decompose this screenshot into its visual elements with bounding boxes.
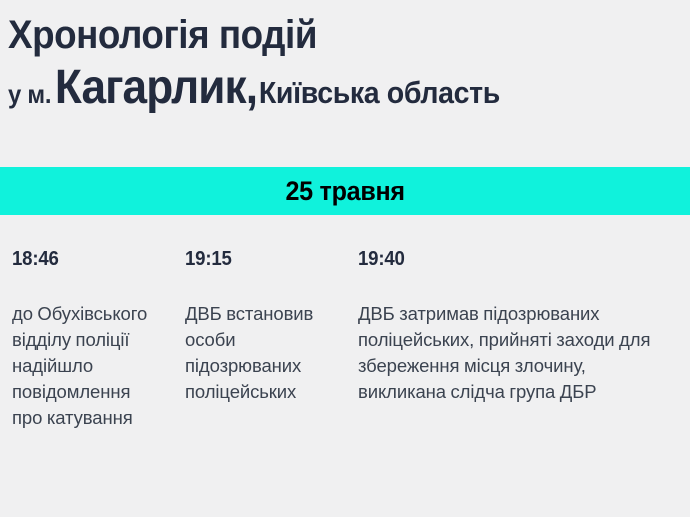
title-location-prefix: у м. (8, 79, 51, 109)
timeline-entry-text: ДВБ затримав підозрюваних поліцейських, … (358, 301, 676, 405)
title-line-primary: Хронологія подій (8, 12, 628, 58)
title-city-name: Кагарлик, (55, 61, 257, 114)
title-line-secondary: у м.Кагарлик,Київська область (8, 64, 628, 112)
title-region-name: Київська область (259, 75, 500, 110)
date-banner: 25 травня (0, 167, 690, 215)
page-title: Хронологія подій у м.Кагарлик,Київська о… (0, 0, 690, 112)
timeline-entry: 19:15 ДВБ встановив особи підозрюваних п… (185, 248, 337, 405)
timeline-entry-time: 19:40 (358, 248, 654, 270)
timeline-entry: 19:40 ДВБ затримав підозрюваних поліцейс… (358, 248, 676, 405)
timeline-entry-text: ДВБ встановив особи підозрюваних поліцей… (185, 301, 337, 405)
timeline-entry-time: 19:15 (185, 248, 326, 270)
infographic-canvas: Хронологія подій у м.Кагарлик,Київська о… (0, 0, 690, 517)
timeline-entry-time: 18:46 (12, 248, 152, 270)
timeline-entry: 18:46 до Обухівського відділу поліції на… (12, 248, 162, 431)
timeline-entry-text: до Обухівського відділу поліції надійшло… (12, 301, 162, 431)
date-banner-label: 25 травня (285, 178, 404, 205)
timeline: 18:46 до Обухівського відділу поліції на… (0, 248, 690, 508)
